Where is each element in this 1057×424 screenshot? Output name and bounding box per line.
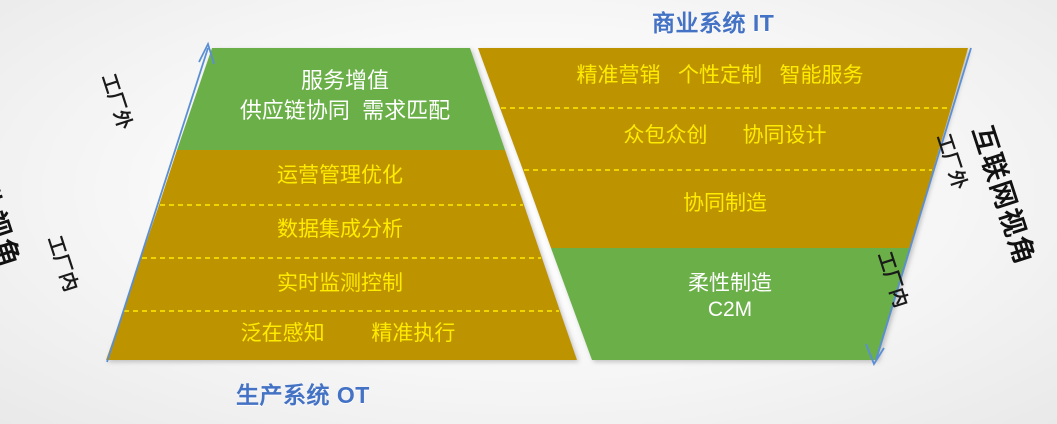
left-row-1-shape (177, 48, 505, 150)
left-row-2-shape (159, 150, 524, 205)
right-row-4-shape (551, 248, 911, 360)
pyramid-shapes (0, 0, 1057, 424)
left-row-4-shape (123, 258, 560, 311)
left-row-5-shape (106, 311, 577, 360)
right-row-2-shape (500, 108, 951, 170)
diagram-canvas: 商业系统 IT 生产系统 OT (0, 0, 1057, 424)
left-row-3-shape (141, 205, 542, 258)
right-row-3-shape (523, 170, 933, 248)
right-row-1-shape (478, 48, 968, 108)
